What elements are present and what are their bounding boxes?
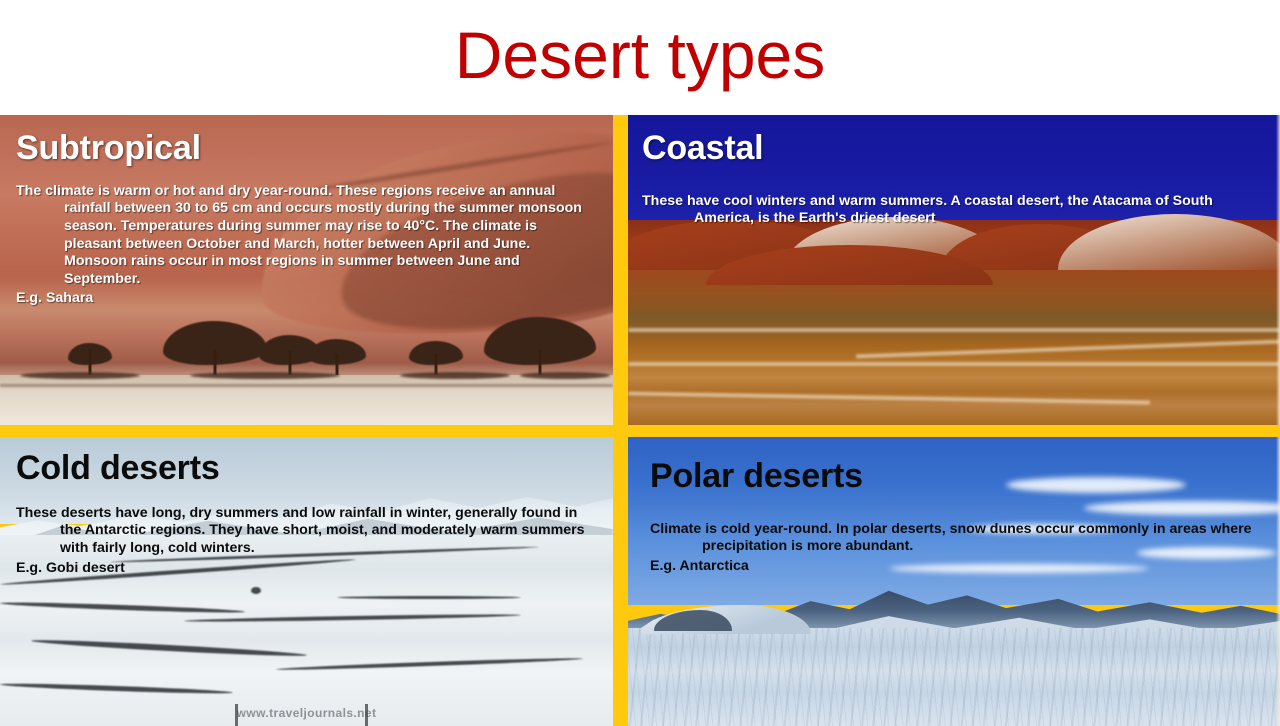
panel-text-polar-deserts: Polar deserts Climate is cold year-round…: [628, 437, 1280, 576]
panel-title-polar-deserts: Polar deserts: [650, 459, 1264, 495]
panel-title-cold-deserts: Cold deserts: [16, 451, 597, 487]
panel-text-subtropical: Subtropical The climate is warm or hot a…: [0, 115, 613, 308]
panel-example-cold-deserts: E.g. Gobi desert: [16, 560, 597, 578]
page-title: Desert types: [455, 22, 825, 94]
panel-coastal[interactable]: Coastal These have cool winters and warm…: [628, 115, 1280, 425]
panel-subtropical[interactable]: Subtropical The climate is warm or hot a…: [0, 115, 613, 425]
panel-cold-deserts[interactable]: www.traveljournals.net Cold deserts Thes…: [0, 437, 613, 726]
panel-title-subtropical: Subtropical: [16, 131, 597, 167]
panel-body-cold-deserts: These deserts have long, dry summers and…: [16, 505, 597, 558]
panel-example-polar-deserts: E.g. Antarctica: [650, 558, 1264, 576]
slide-desert-types: Desert types: [0, 0, 1280, 726]
panel-body-polar-deserts: Climate is cold year-round. In polar des…: [650, 521, 1264, 556]
panel-body-coastal: These have cool winters and warm summers…: [642, 193, 1264, 228]
panel-grid: Subtropical The climate is warm or hot a…: [0, 115, 1280, 726]
panel-body-subtropical: The climate is warm or hot and dry year-…: [16, 183, 597, 289]
panel-text-cold-deserts: Cold deserts These deserts have long, dr…: [0, 437, 613, 577]
panel-polar-deserts[interactable]: Polar deserts Climate is cold year-round…: [628, 437, 1280, 726]
image-watermark: www.traveljournals.net: [237, 706, 377, 720]
panel-title-coastal: Coastal: [642, 131, 1264, 167]
panel-example-subtropical: E.g. Sahara: [16, 290, 597, 308]
slide-title-bar: Desert types: [0, 0, 1280, 115]
panel-text-coastal: Coastal These have cool winters and warm…: [628, 115, 1280, 228]
